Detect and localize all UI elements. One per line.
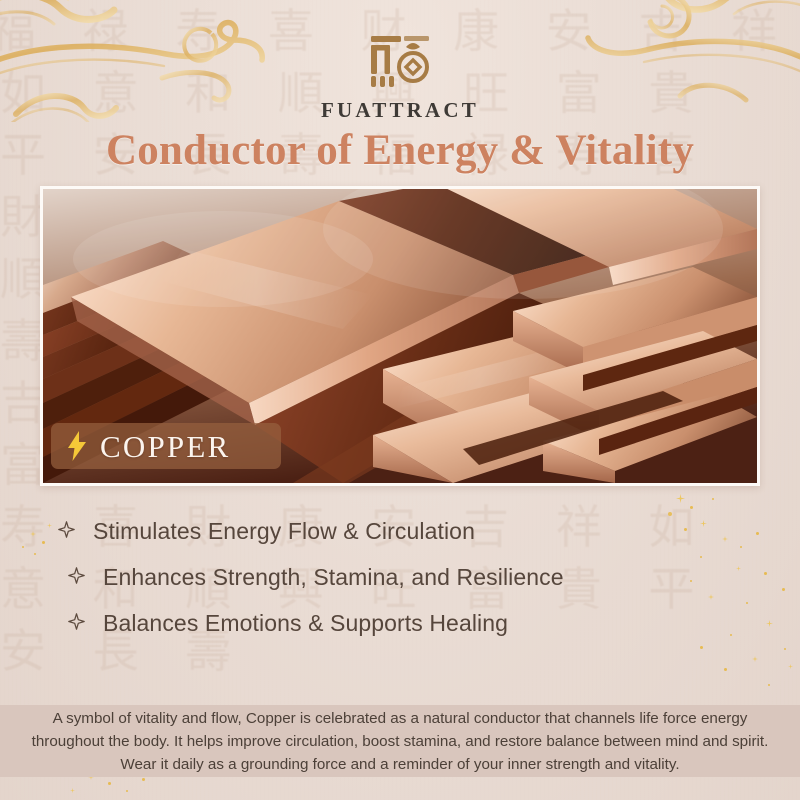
- footer-description-band: A symbol of vitality and flow, Copper is…: [0, 705, 800, 777]
- list-item: Enhances Strength, Stamina, and Resilien…: [68, 564, 748, 591]
- hero-image-frame: COPPER: [40, 186, 760, 486]
- status-badge: COPPER: [51, 423, 281, 469]
- stacked-copper-bars-photo: COPPER: [43, 189, 757, 483]
- page-title: Conductor of Energy & Vitality: [0, 126, 800, 175]
- badge-label: COPPER: [100, 431, 230, 462]
- list-item-label: Stimulates Energy Flow & Circulation: [93, 518, 475, 545]
- four-point-diamond-icon: [68, 613, 85, 635]
- list-item: Balances Emotions & Supports Healing: [68, 610, 748, 637]
- four-point-diamond-icon: [58, 521, 75, 543]
- brand-header: FUATTRACT: [0, 34, 800, 123]
- list-item: Stimulates Energy Flow & Circulation: [58, 518, 748, 545]
- footer-paragraph: A symbol of vitality and flow, Copper is…: [21, 707, 779, 776]
- list-item-label: Balances Emotions & Supports Healing: [103, 610, 508, 637]
- four-point-diamond-icon: [68, 567, 85, 589]
- brand-name: FUATTRACT: [321, 98, 479, 123]
- fuattract-seal-logo-icon: [368, 34, 432, 93]
- benefits-list: Stimulates Energy Flow & Circulation Enh…: [58, 518, 748, 637]
- infographic-poster: 福 禄 寿 喜 财 康 安 吉 祥 如 意 和 順 興 旺 富 貴 平 安 長 …: [0, 0, 800, 800]
- lightning-bolt-icon: [67, 431, 87, 461]
- list-item-label: Enhances Strength, Stamina, and Resilien…: [103, 564, 564, 591]
